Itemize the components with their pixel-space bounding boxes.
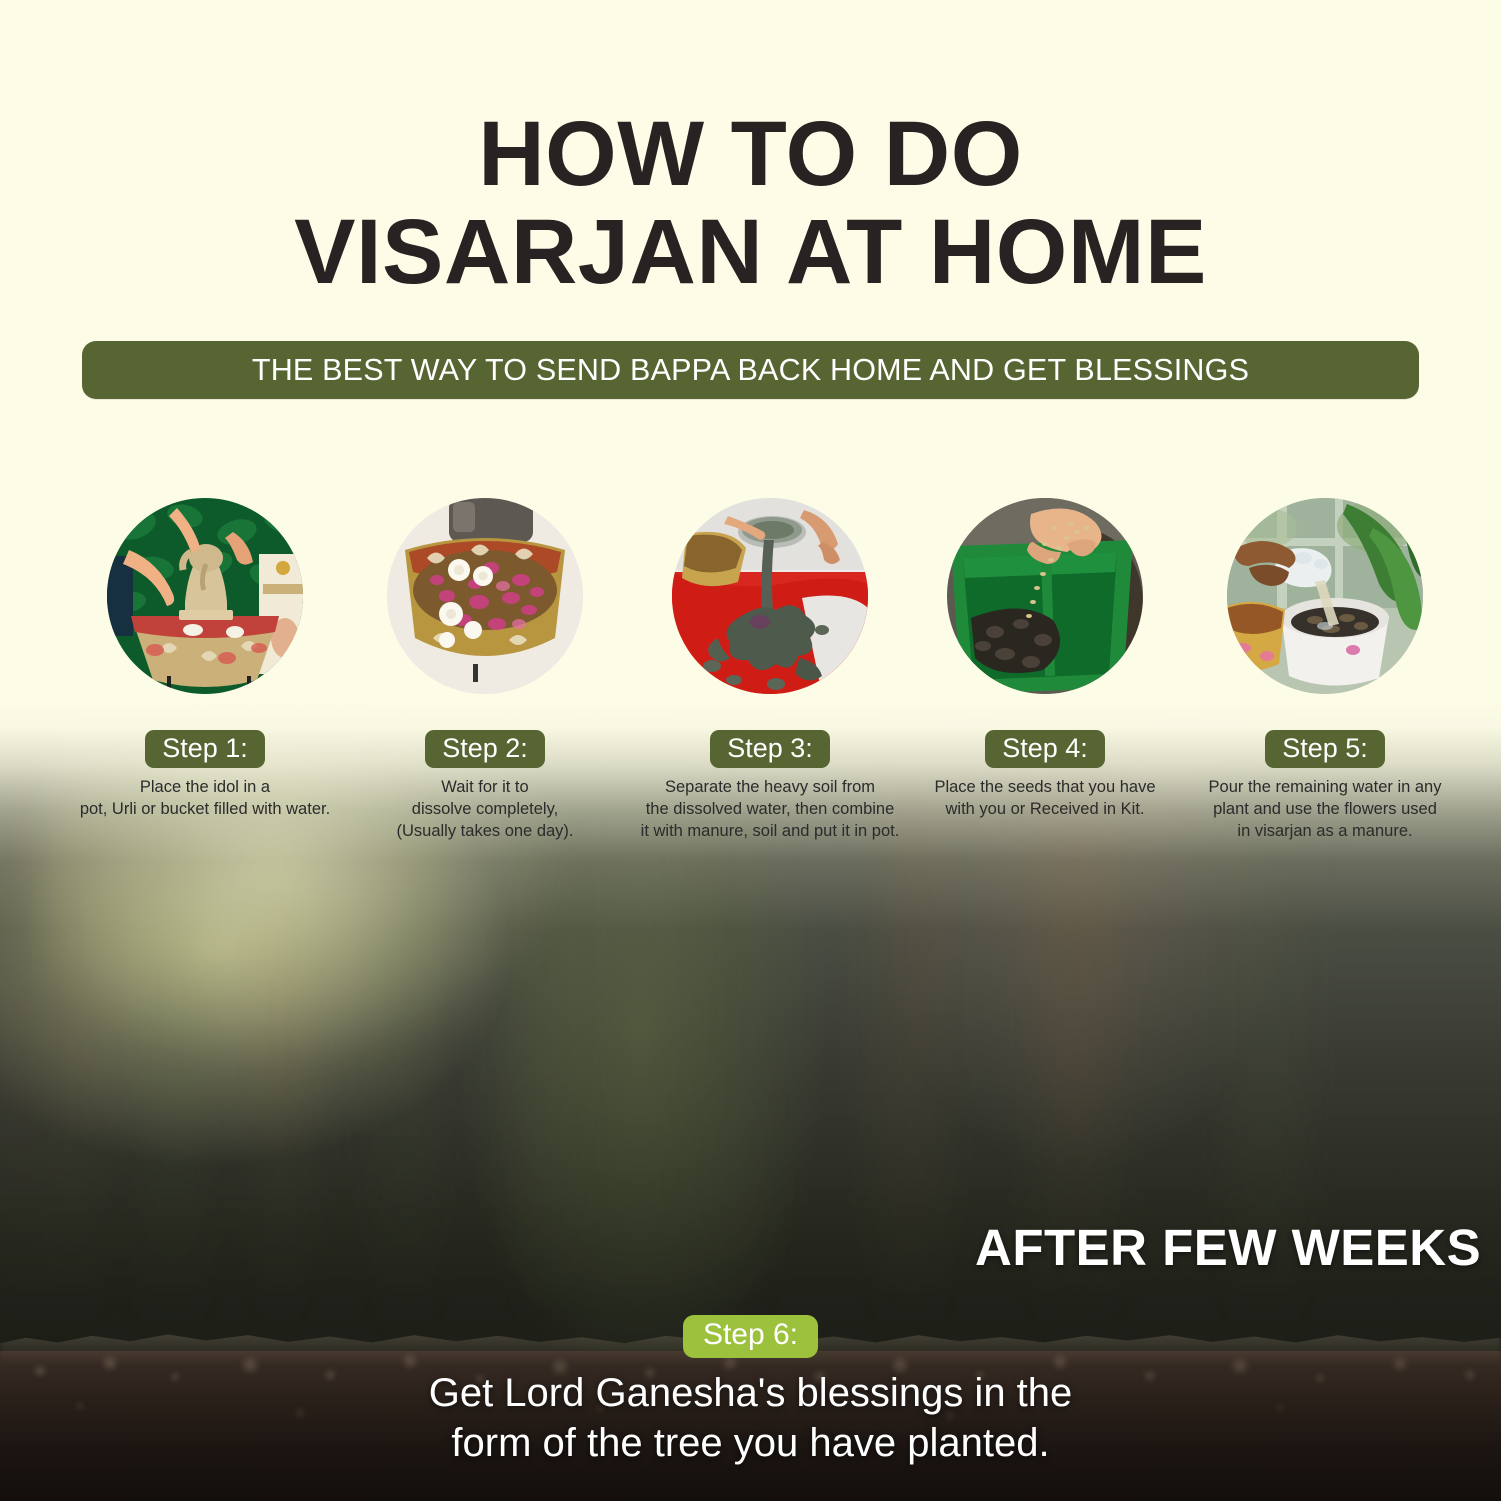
subtitle-text: THE BEST WAY TO SEND BAPPA BACK HOME AND… [252,353,1249,388]
step-item-6: Step 6: Get Lord Ganesha's blessings in … [0,1315,1501,1468]
step-2-badge: Step 2: [425,730,545,768]
title-line-1: HOW TO DO [478,103,1023,205]
step-item-1: Step 1: Place the idol in a pot, Urli or… [55,498,355,821]
step-5-caption: Pour the remaining water in any plant an… [1160,777,1490,842]
page-title: HOW TO DO VISARJAN AT HOME [0,108,1501,300]
step-4-badge: Step 4: [985,730,1105,768]
subtitle-banner: THE BEST WAY TO SEND BAPPA BACK HOME AND… [82,341,1419,399]
step-1-badge: Step 1: [145,730,265,768]
step-6-caption: Get Lord Ganesha's blessings in the form… [0,1368,1501,1468]
step-3-caption: Separate the heavy soil from the dissolv… [605,777,935,842]
step-1-caption: Place the idol in a pot, Urli or bucket … [55,777,355,821]
steps-row: Step 1: Place the idol in a pot, Urli or… [0,498,1501,838]
step-item-4: Step 4: Place the seeds that you have wi… [895,498,1195,821]
step-item-2: Step 2: Wait for it to dissolve complete… [335,498,635,843]
step-5-image [1227,498,1423,694]
after-few-weeks-label: AFTER FEW WEEKS [975,1218,1481,1277]
step-2-caption: Wait for it to dissolve completely, (Usu… [335,777,635,842]
step-3-image [672,498,868,694]
step-3-badge: Step 3: [710,730,830,768]
step-item-5: Step 5: Pour the remaining water in any … [1160,498,1490,843]
step-4-image [947,498,1143,694]
step-1-image [107,498,303,694]
step-2-image [387,498,583,694]
step-item-3: Step 3: Separate the heavy soil from the… [605,498,935,843]
title-line-2: VISARJAN AT HOME [0,206,1501,300]
step-6-badge: Step 6: [683,1315,818,1358]
step-5-badge: Step 5: [1265,730,1385,768]
step-4-caption: Place the seeds that you have with you o… [895,777,1195,821]
infographic-canvas: HOW TO DO VISARJAN AT HOME THE BEST WAY … [0,0,1501,1501]
